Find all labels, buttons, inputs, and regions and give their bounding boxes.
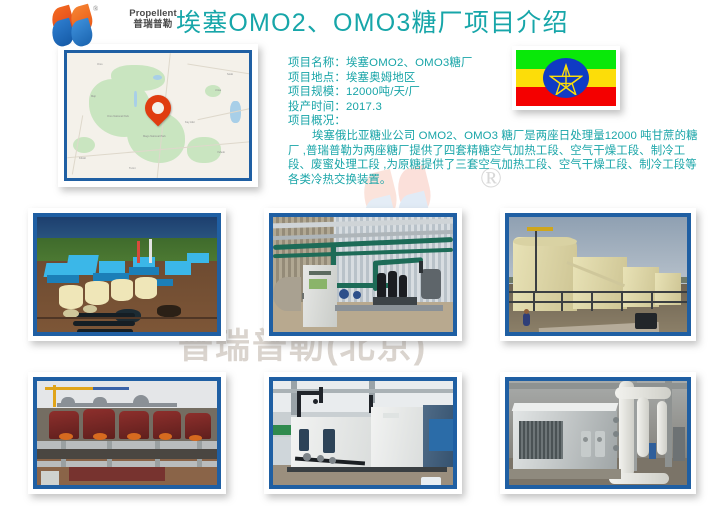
info-line-startup: 投产时间：2017.3 xyxy=(288,100,708,115)
ethiopia-flag-card xyxy=(512,46,620,110)
flag-star-icon xyxy=(549,61,583,95)
gallery-photo-5-image xyxy=(269,377,457,489)
gallery-photo-2-image xyxy=(269,213,457,336)
info-line-location: 项目地点：埃塞奥姆地区 xyxy=(288,71,708,86)
gallery-photo-6-image xyxy=(505,377,691,489)
gallery-photo-2[interactable] xyxy=(264,208,462,341)
project-introduction-page: ® Pro 普瑞普勒(北京) ® Propellent 普瑞普勒 埃塞OMO2、… xyxy=(0,0,720,506)
info-line-name: 项目名称：埃塞OMO2、OMO3糖厂 xyxy=(288,56,708,71)
page-title: 埃塞OMO2、OMO3糖厂项目介绍 xyxy=(176,3,569,39)
info-line-scale: 项目规模：12000吨/天/厂 xyxy=(288,85,708,100)
gallery-photo-4-image xyxy=(33,377,221,489)
gallery-photo-5[interactable] xyxy=(264,372,462,494)
location-map-image: Omo Omo National Park Mago National Park… xyxy=(64,50,252,181)
ethiopia-flag-icon xyxy=(516,50,616,106)
gallery-photo-1-image xyxy=(33,213,221,336)
gallery-photo-1[interactable] xyxy=(28,208,226,341)
company-logo-icon: ® xyxy=(52,6,112,40)
project-info-block: 项目名称：埃塞OMO2、OMO3糖厂 项目地点：埃塞奥姆地区 项目规模：1200… xyxy=(288,56,708,187)
info-overview-text: 埃塞俄比亚糖业公司 OMO2、OMO3 糖厂是两座日处理量12000 吨甘蔗的糖… xyxy=(288,129,706,187)
gallery-photo-6[interactable] xyxy=(500,372,696,494)
gallery-photo-3-image xyxy=(505,213,691,336)
gallery-photo-4[interactable] xyxy=(28,372,226,494)
info-line-overview-label: 项目概况： xyxy=(288,114,708,129)
gallery-photo-3[interactable] xyxy=(500,208,696,341)
registered-trademark-icon: ® xyxy=(93,5,98,13)
location-map-card[interactable]: Omo Omo National Park Mago National Park… xyxy=(58,44,258,187)
page-header: ® Propellent 普瑞普勒 埃塞OMO2、OMO3糖厂项目介绍 xyxy=(0,0,720,44)
